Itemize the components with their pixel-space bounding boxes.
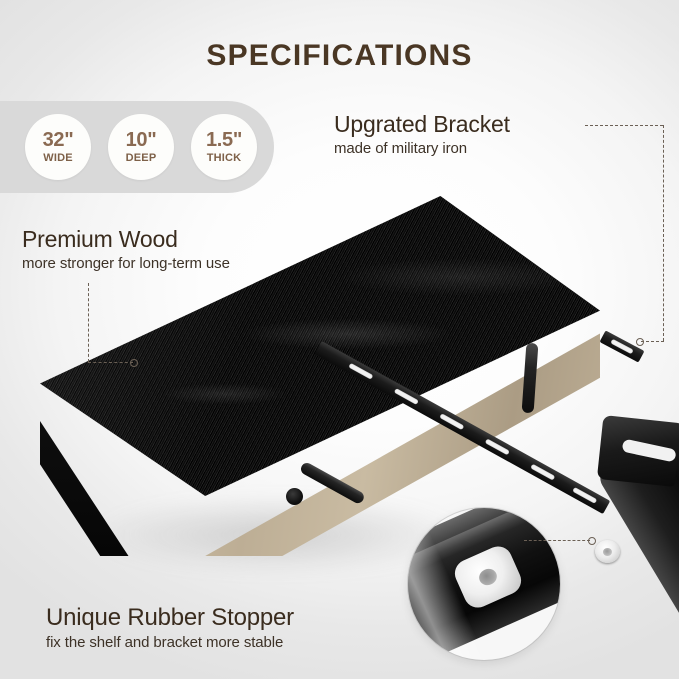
leader-line-wood-horizontal bbox=[88, 362, 133, 363]
rubber-stopper-on-bracket bbox=[595, 540, 620, 563]
callout-rubber-stopper: Unique Rubber Stopper fix the shelf and … bbox=[46, 605, 294, 652]
leader-endpoint-wood bbox=[130, 359, 138, 367]
callout-premium-wood: Premium Wood more stronger for long-term… bbox=[22, 227, 230, 273]
callout-stopper-subtext: fix the shelf and bracket more stable bbox=[46, 634, 294, 652]
leader-line-wood-vertical bbox=[88, 283, 89, 362]
product-photo bbox=[0, 0, 679, 679]
bracket-rod-cap bbox=[286, 488, 303, 505]
leader-endpoint-stopper bbox=[588, 537, 596, 545]
product-specification-infographic: SPECIFICATIONS 32" WIDE 10" DEEP 1.5" TH… bbox=[0, 0, 679, 679]
leader-endpoint-bracket bbox=[636, 338, 644, 346]
rubber-stopper-closeup-inset bbox=[408, 508, 560, 660]
second-bracket-plate bbox=[597, 415, 679, 487]
callout-wood-heading: Premium Wood bbox=[22, 227, 230, 253]
callout-wood-subtext: more stronger for long-term use bbox=[22, 255, 230, 273]
callout-bracket-subtext: made of military iron bbox=[334, 140, 510, 158]
callout-stopper-heading: Unique Rubber Stopper bbox=[46, 605, 294, 632]
leader-line-bracket-right bbox=[663, 125, 664, 341]
leader-line-bracket-top bbox=[585, 125, 663, 126]
leader-line-stopper bbox=[524, 540, 590, 541]
callout-upgraded-bracket: Upgrated Bracket made of military iron bbox=[334, 112, 510, 158]
second-bracket-slot bbox=[621, 439, 677, 463]
leader-line-bracket-bottom bbox=[641, 341, 664, 342]
callout-bracket-heading: Upgrated Bracket bbox=[334, 112, 510, 138]
